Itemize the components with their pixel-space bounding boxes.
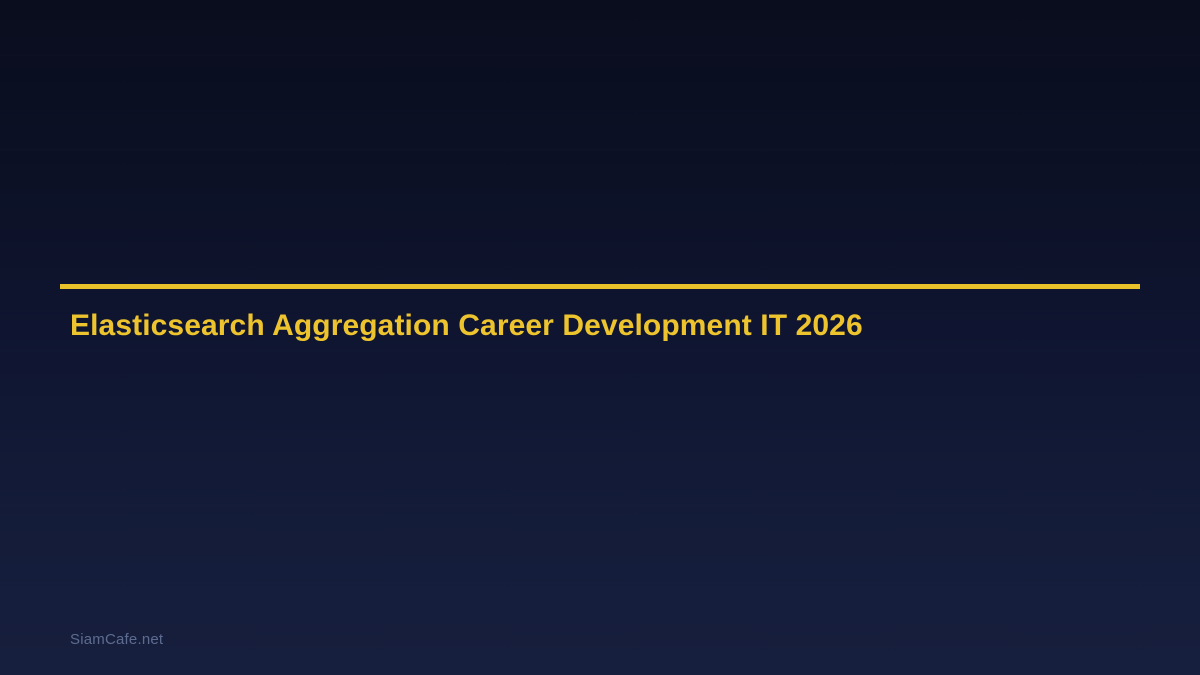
- footer-branding: SiamCafe.net: [70, 630, 163, 650]
- gold-accent-rule: [60, 284, 1140, 289]
- page-title: Elasticsearch Aggregation Career Develop…: [70, 307, 1140, 345]
- presentation-slide: Elasticsearch Aggregation Career Develop…: [0, 0, 1200, 675]
- title-block: Elasticsearch Aggregation Career Develop…: [60, 284, 1140, 345]
